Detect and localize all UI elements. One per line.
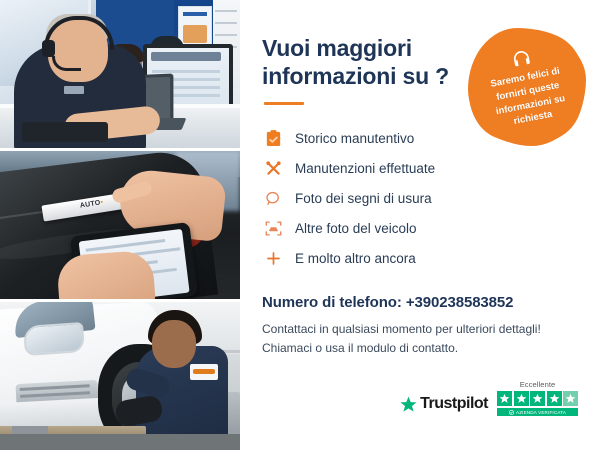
feature-label: E molto altro ancora bbox=[295, 251, 416, 266]
verified-check-icon bbox=[509, 410, 514, 415]
car-scan-frame-icon bbox=[262, 219, 284, 239]
contact-description: Contattaci in qualsiasi momento per ulte… bbox=[262, 320, 582, 357]
feature-list: Storico manutentivo Manutenzioni effettu… bbox=[262, 125, 582, 272]
feature-item-foto-usura: Foto dei segni di usura bbox=[262, 185, 582, 212]
clipboard-check-icon bbox=[262, 129, 284, 149]
mechanic-uniform-logo bbox=[190, 364, 218, 380]
rating-label: Eccellente bbox=[520, 380, 556, 389]
feature-item-manutenzioni: Manutenzioni effettuate bbox=[262, 155, 582, 182]
star-1 bbox=[497, 391, 512, 406]
trustpilot-logo: Trustpilot bbox=[400, 395, 488, 416]
headset-icon bbox=[510, 47, 533, 70]
magnifier-glyph bbox=[265, 190, 282, 207]
photo-measurement: AUTO• bbox=[0, 151, 240, 299]
title-underline bbox=[264, 102, 304, 105]
magnifier-icon bbox=[262, 189, 284, 209]
callout-badge: Saremo felici di fornirti queste informa… bbox=[468, 28, 586, 146]
photo-call-center bbox=[0, 0, 240, 148]
star-2 bbox=[514, 391, 529, 406]
car-scan-frame-glyph bbox=[265, 220, 282, 237]
phone-number[interactable]: Numero di telefono: +390238583852 bbox=[262, 294, 582, 311]
star-3 bbox=[530, 391, 545, 406]
photo-wheel-inspection bbox=[0, 302, 240, 450]
advisor-headset-earcup bbox=[42, 40, 55, 57]
content-panel: Vuoi maggiori informazioni su ? Saremo f… bbox=[240, 0, 600, 450]
feature-item-altro-ancora: E molto altro ancora bbox=[262, 245, 582, 272]
car-headlamp bbox=[23, 322, 85, 356]
tools-cross-glyph bbox=[265, 160, 282, 177]
plus-glyph bbox=[265, 250, 282, 267]
trustpilot-wordmark: Trustpilot bbox=[420, 395, 488, 413]
desk-tray bbox=[22, 122, 108, 142]
clipboard-check-glyph bbox=[266, 130, 281, 147]
feature-label: Foto dei segni di usura bbox=[295, 191, 432, 206]
verified-label: AZIENDA VERIFICATA bbox=[516, 410, 566, 415]
star-5 bbox=[563, 391, 578, 406]
photo-column: AUTO• bbox=[0, 0, 240, 450]
badge-text: Saremo felici di fornirti queste informa… bbox=[466, 60, 592, 137]
mechanic-head bbox=[152, 320, 196, 368]
verified-business-badge: AZIENDA VERIFICATA bbox=[497, 408, 578, 416]
feature-label: Storico manutentivo bbox=[295, 131, 414, 146]
trustpilot-widget[interactable]: Trustpilot Eccellente bbox=[400, 380, 578, 416]
feature-label: Manutenzioni effettuate bbox=[295, 161, 435, 176]
star-4 bbox=[547, 391, 562, 406]
trustpilot-rating: Eccellente bbox=[497, 380, 578, 416]
page-title: Vuoi maggiori informazioni su ? bbox=[262, 34, 477, 90]
advisor-name-badge bbox=[64, 86, 84, 94]
workshop-floor bbox=[0, 434, 240, 450]
star-rating bbox=[497, 391, 578, 406]
plus-icon bbox=[262, 249, 284, 269]
promo-card: AUTO• bbox=[0, 0, 600, 450]
feature-item-altre-foto: Altre foto del veicolo bbox=[262, 215, 582, 242]
trustpilot-star-icon bbox=[400, 396, 417, 413]
feature-label: Altre foto del veicolo bbox=[295, 221, 417, 236]
tools-cross-icon bbox=[262, 159, 284, 179]
contact-line-2: Chiamaci o usa il modulo di contatto. bbox=[262, 339, 582, 358]
contact-line-1: Contattaci in qualsiasi momento per ulte… bbox=[262, 320, 582, 339]
